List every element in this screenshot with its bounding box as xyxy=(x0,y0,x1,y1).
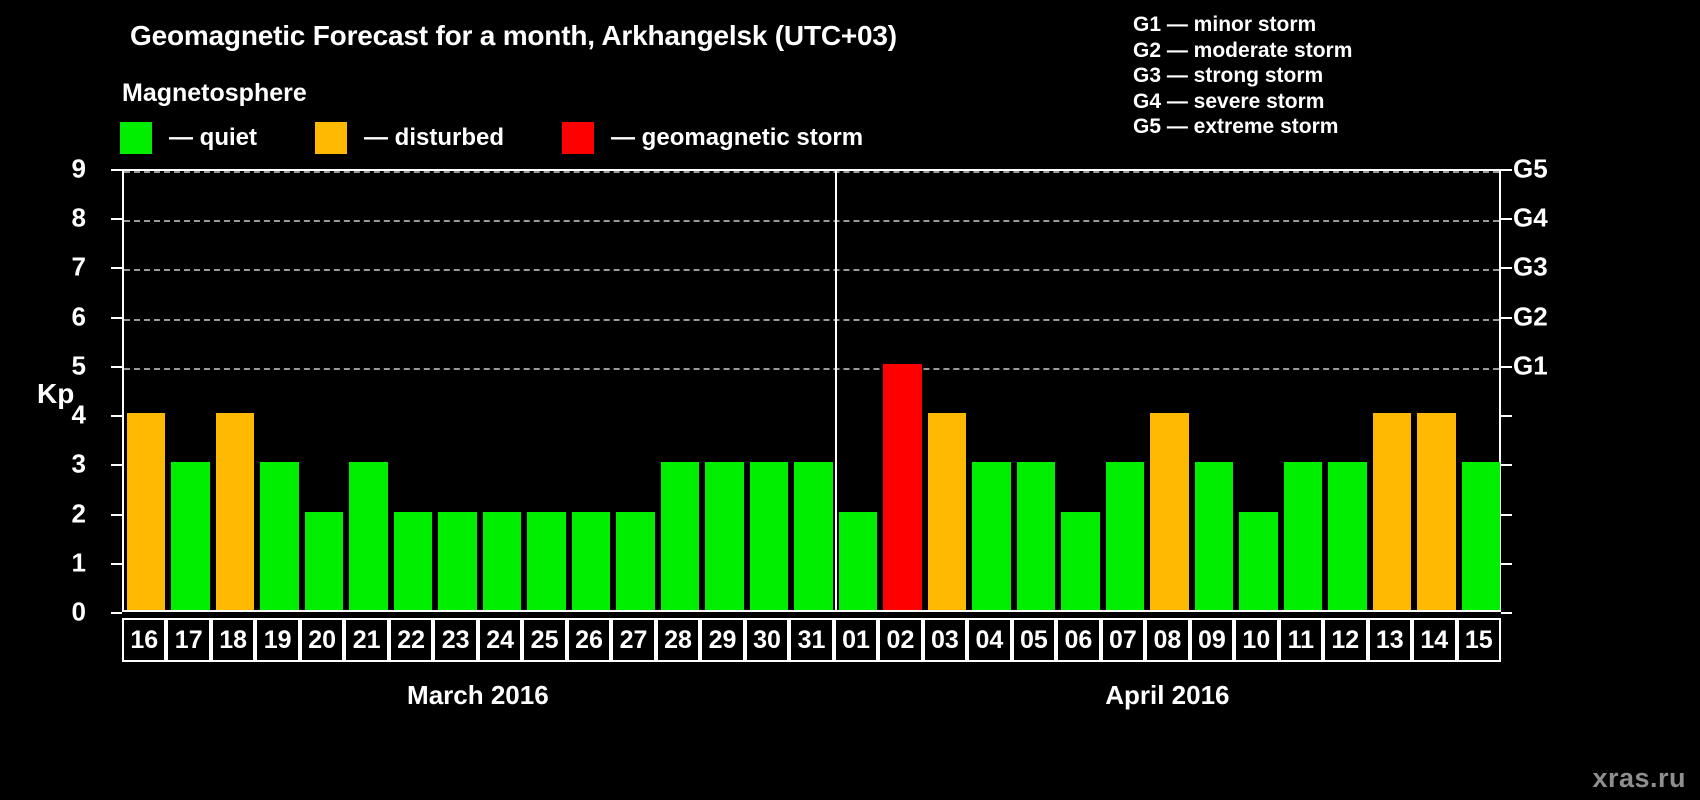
g-tick-label-G5: G5 xyxy=(1513,154,1548,185)
bar-march-21[interactable] xyxy=(349,462,387,610)
day-label-april-05[interactable]: 05 xyxy=(1012,618,1056,662)
y-tick-mark-4 xyxy=(111,415,122,417)
day-label-april-12[interactable]: 12 xyxy=(1323,618,1367,662)
bar-april-11[interactable] xyxy=(1284,462,1322,610)
bar-march-30[interactable] xyxy=(750,462,788,610)
y-tick-label-5: 5 xyxy=(46,350,86,381)
bar-march-23[interactable] xyxy=(438,512,476,610)
y-tick-mark-9 xyxy=(111,169,122,171)
day-label-march-27[interactable]: 27 xyxy=(611,618,655,662)
legend-entry-2: — geomagnetic storm xyxy=(562,122,863,154)
bar-april-10[interactable] xyxy=(1239,512,1277,610)
bar-march-27[interactable] xyxy=(616,512,654,610)
g-tick-label-G3: G3 xyxy=(1513,252,1548,283)
bar-april-03[interactable] xyxy=(928,413,966,610)
day-label-april-01[interactable]: 01 xyxy=(834,618,878,662)
y-tick-label-4: 4 xyxy=(46,400,86,431)
y-tick-mark-6 xyxy=(111,317,122,319)
day-label-march-21[interactable]: 21 xyxy=(344,618,388,662)
legend-entry-1: — disturbed xyxy=(315,122,504,154)
g-tick-mark-G2 xyxy=(1501,317,1512,319)
bar-april-12[interactable] xyxy=(1328,462,1366,610)
day-label-april-10[interactable]: 10 xyxy=(1234,618,1278,662)
gscale-legend: G1 — minor stormG2 — moderate stormG3 — … xyxy=(1133,12,1352,140)
bar-march-26[interactable] xyxy=(572,512,610,610)
g-tick-label-G1: G1 xyxy=(1513,350,1548,381)
day-label-april-15[interactable]: 15 xyxy=(1457,618,1501,662)
bar-march-24[interactable] xyxy=(483,512,521,610)
day-label-april-09[interactable]: 09 xyxy=(1190,618,1234,662)
gscale-legend-row-2: G2 — moderate storm xyxy=(1133,38,1352,64)
day-label-march-30[interactable]: 30 xyxy=(745,618,789,662)
day-label-march-23[interactable]: 23 xyxy=(433,618,477,662)
day-label-march-29[interactable]: 29 xyxy=(700,618,744,662)
bar-april-05[interactable] xyxy=(1017,462,1055,610)
legend-swatch-icon xyxy=(120,122,152,154)
g-minor-tick-1 xyxy=(1501,563,1512,565)
day-label-march-16[interactable]: 16 xyxy=(122,618,166,662)
plot-inner xyxy=(124,171,1499,610)
y-tick-label-2: 2 xyxy=(46,498,86,529)
y-tick-label-3: 3 xyxy=(46,449,86,480)
gridline-kp-8 xyxy=(124,220,1499,222)
g-tick-mark-G3 xyxy=(1501,267,1512,269)
g-tick-mark-G4 xyxy=(1501,218,1512,220)
y-tick-mark-2 xyxy=(111,514,122,516)
y-tick-mark-8 xyxy=(111,218,122,220)
legend-label: — geomagnetic storm xyxy=(611,124,863,152)
day-label-march-17[interactable]: 17 xyxy=(166,618,210,662)
page-title: Geomagnetic Forecast for a month, Arkhan… xyxy=(130,20,897,52)
bar-march-20[interactable] xyxy=(305,512,343,610)
bar-april-01[interactable] xyxy=(839,512,877,610)
legend-swatch-icon xyxy=(562,122,594,154)
g-minor-tick-2 xyxy=(1501,514,1512,516)
y-tick-label-0: 0 xyxy=(46,597,86,628)
y-tick-mark-7 xyxy=(111,267,122,269)
day-label-april-08[interactable]: 08 xyxy=(1145,618,1189,662)
y-tick-mark-3 xyxy=(111,464,122,466)
legend-swatch-icon xyxy=(315,122,347,154)
bar-april-09[interactable] xyxy=(1195,462,1233,610)
day-label-april-06[interactable]: 06 xyxy=(1056,618,1100,662)
plot-area xyxy=(122,169,1501,612)
y-tick-label-9: 9 xyxy=(46,154,86,185)
gscale-legend-row-1: G1 — minor storm xyxy=(1133,12,1352,38)
g-tick-label-G4: G4 xyxy=(1513,203,1548,234)
bar-april-14[interactable] xyxy=(1417,413,1455,610)
gridline-kp-9 xyxy=(124,171,1499,173)
bar-march-25[interactable] xyxy=(527,512,565,610)
gscale-legend-row-5: G5 — extreme storm xyxy=(1133,114,1352,140)
day-label-march-25[interactable]: 25 xyxy=(522,618,566,662)
day-label-march-20[interactable]: 20 xyxy=(300,618,344,662)
day-label-april-11[interactable]: 11 xyxy=(1279,618,1323,662)
y-tick-mark-0 xyxy=(111,612,122,614)
day-label-row: 1617181920212223242526272829303101020304… xyxy=(122,618,1501,662)
day-label-march-18[interactable]: 18 xyxy=(211,618,255,662)
bar-march-22[interactable] xyxy=(394,512,432,610)
day-label-march-28[interactable]: 28 xyxy=(656,618,700,662)
magnetosphere-heading: Magnetosphere xyxy=(122,79,307,108)
bar-march-19[interactable] xyxy=(260,462,298,610)
gscale-legend-row-4: G4 — severe storm xyxy=(1133,89,1352,115)
g-minor-tick-4 xyxy=(1501,415,1512,417)
bar-april-04[interactable] xyxy=(972,462,1010,610)
g-tick-mark-G5 xyxy=(1501,169,1512,171)
bar-april-15[interactable] xyxy=(1462,462,1500,610)
day-label-april-07[interactable]: 07 xyxy=(1101,618,1145,662)
bar-april-02[interactable] xyxy=(883,364,921,610)
g-minor-tick-3 xyxy=(1501,464,1512,466)
legend-label: — disturbed xyxy=(364,124,504,152)
day-label-april-13[interactable]: 13 xyxy=(1368,618,1412,662)
bar-march-28[interactable] xyxy=(661,462,699,610)
gridline-kp-5 xyxy=(124,368,1499,370)
day-label-march-26[interactable]: 26 xyxy=(567,618,611,662)
y-tick-label-7: 7 xyxy=(46,252,86,283)
y-tick-label-6: 6 xyxy=(46,301,86,332)
magnetosphere-legend: — quiet— disturbed— geomagnetic storm xyxy=(120,122,921,154)
y-tick-label-1: 1 xyxy=(46,547,86,578)
g-minor-tick-0 xyxy=(1501,612,1512,614)
bar-april-06[interactable] xyxy=(1061,512,1099,610)
gscale-legend-row-3: G3 — strong storm xyxy=(1133,63,1352,89)
day-label-april-03[interactable]: 03 xyxy=(923,618,967,662)
bar-march-16[interactable] xyxy=(127,413,165,610)
bar-march-31[interactable] xyxy=(794,462,832,610)
month-caption-march: March 2016 xyxy=(407,680,549,711)
bar-april-07[interactable] xyxy=(1106,462,1144,610)
bar-march-18[interactable] xyxy=(216,413,254,610)
month-caption-april: April 2016 xyxy=(1105,680,1229,711)
gridline-kp-6 xyxy=(124,319,1499,321)
legend-entry-0: — quiet xyxy=(120,122,257,154)
day-label-april-14[interactable]: 14 xyxy=(1412,618,1456,662)
y-tick-mark-5 xyxy=(111,366,122,368)
day-label-april-04[interactable]: 04 xyxy=(967,618,1011,662)
day-label-march-22[interactable]: 22 xyxy=(389,618,433,662)
day-label-march-31[interactable]: 31 xyxy=(789,618,833,662)
y-tick-mark-1 xyxy=(111,563,122,565)
month-divider xyxy=(835,169,837,612)
gridline-kp-7 xyxy=(124,269,1499,271)
bar-april-13[interactable] xyxy=(1373,413,1411,610)
bar-march-17[interactable] xyxy=(171,462,209,610)
bar-march-29[interactable] xyxy=(705,462,743,610)
g-tick-label-G2: G2 xyxy=(1513,301,1548,332)
day-label-march-19[interactable]: 19 xyxy=(255,618,299,662)
y-tick-label-8: 8 xyxy=(46,203,86,234)
watermark: xras.ru xyxy=(1592,763,1686,794)
day-label-april-02[interactable]: 02 xyxy=(878,618,922,662)
day-label-march-24[interactable]: 24 xyxy=(478,618,522,662)
bar-april-08[interactable] xyxy=(1150,413,1188,610)
g-tick-mark-G1 xyxy=(1501,366,1512,368)
legend-label: — quiet xyxy=(169,124,257,152)
